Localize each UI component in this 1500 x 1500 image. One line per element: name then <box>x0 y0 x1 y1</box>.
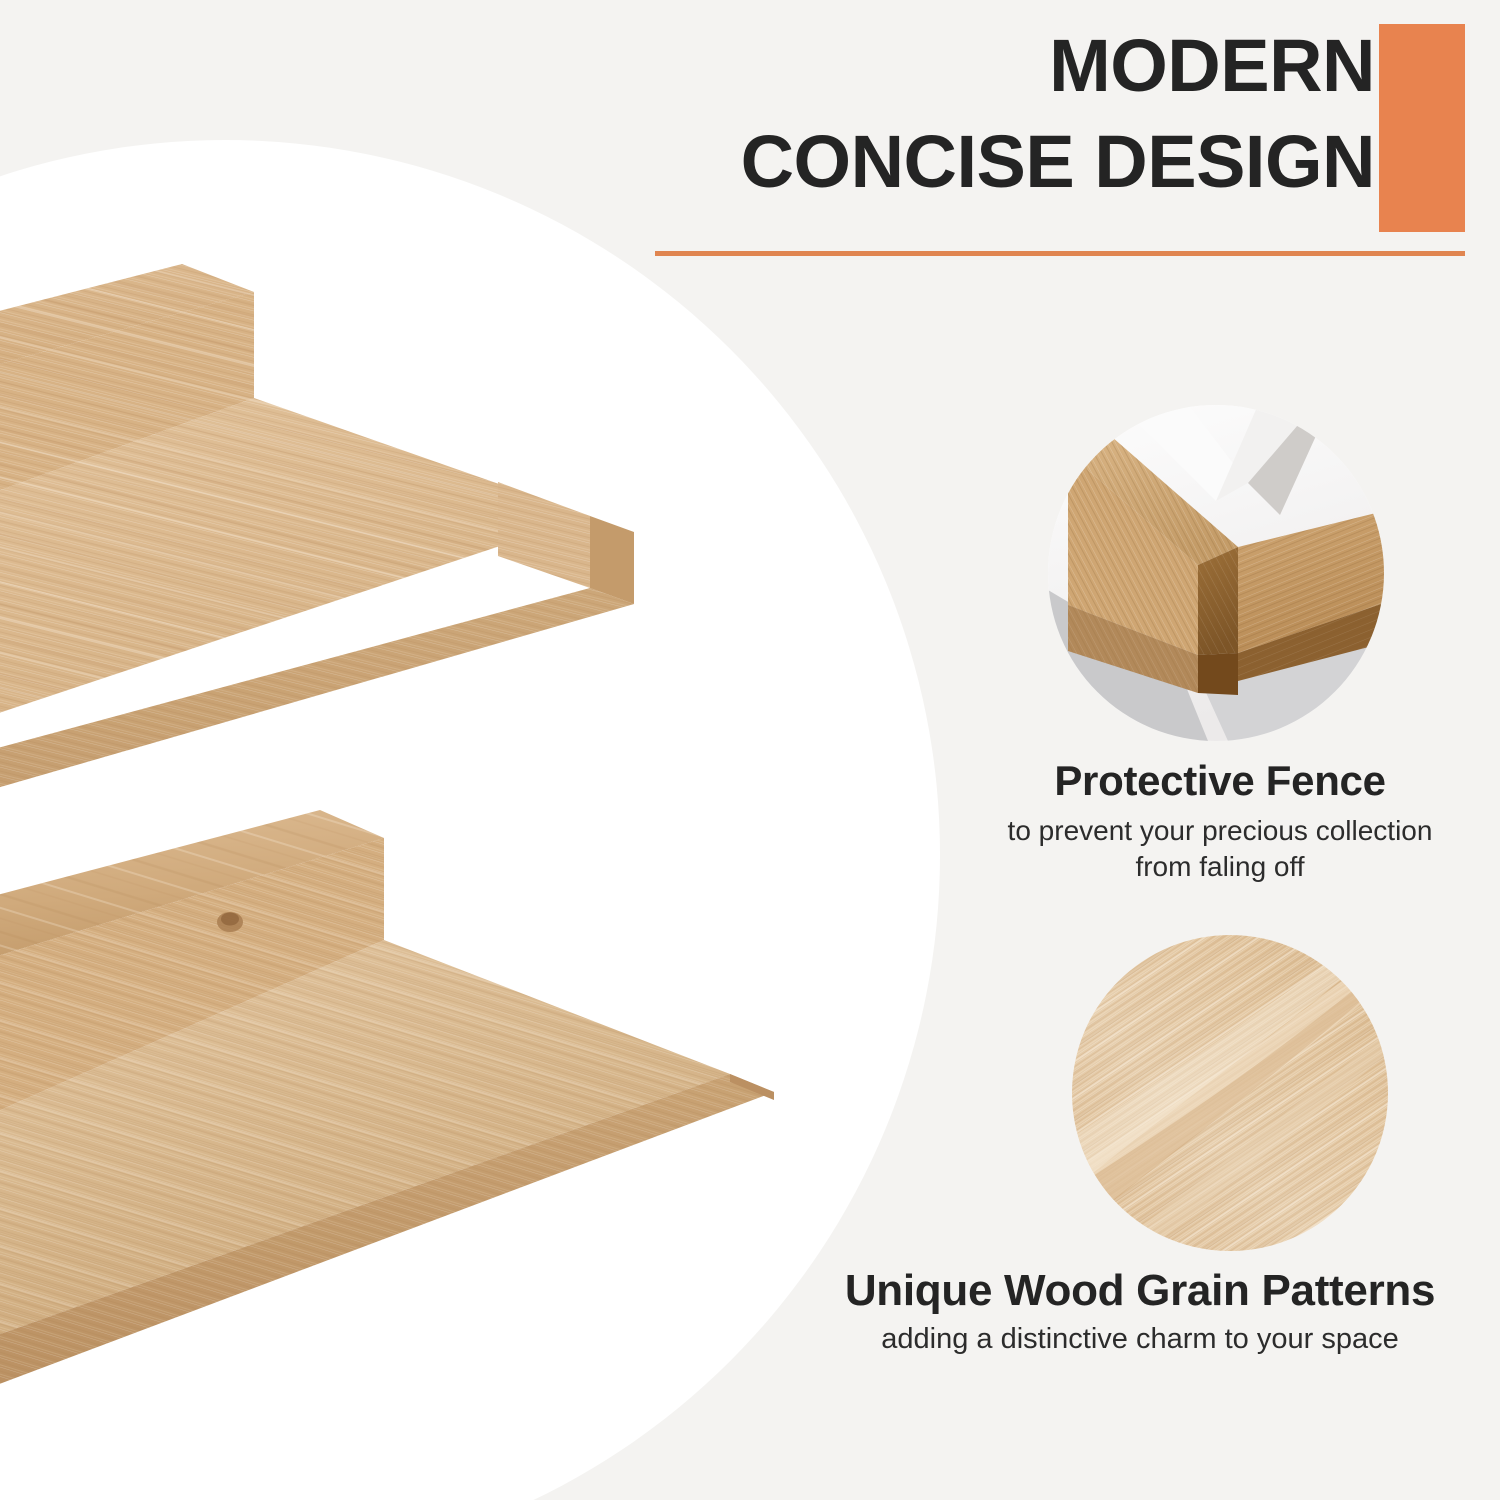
header-block: MODERN CONCISE DESIGN <box>600 18 1480 268</box>
protective-fence-subtitle-line1: to prevent your precious collection <box>940 813 1500 849</box>
orange-divider-rule <box>655 251 1465 256</box>
protective-fence-text: Protective Fence to prevent your preciou… <box>940 755 1500 885</box>
headline-line-2: CONCISE DESIGN <box>600 114 1375 210</box>
fence-closeup-art <box>1048 405 1384 741</box>
page-title: MODERN CONCISE DESIGN <box>600 18 1375 210</box>
protective-fence-title: Protective Fence <box>940 755 1500 807</box>
protective-fence-subtitle-line2: from faling off <box>940 849 1500 885</box>
wood-grain-subtitle: adding a distinctive charm to your space <box>780 1321 1500 1357</box>
wood-grain-closeup-photo <box>1072 935 1388 1251</box>
wood-grain-art <box>1072 935 1388 1251</box>
promo-banner: MODERN CONCISE DESIGN <box>0 0 1500 1500</box>
wood-grain-text: Unique Wood Grain Patterns adding a dist… <box>780 1265 1500 1357</box>
wood-grain-title: Unique Wood Grain Patterns <box>780 1265 1500 1317</box>
protective-fence-closeup-photo <box>1048 405 1384 741</box>
headline-line-1: MODERN <box>600 18 1375 114</box>
orange-accent-bar <box>1379 24 1465 232</box>
